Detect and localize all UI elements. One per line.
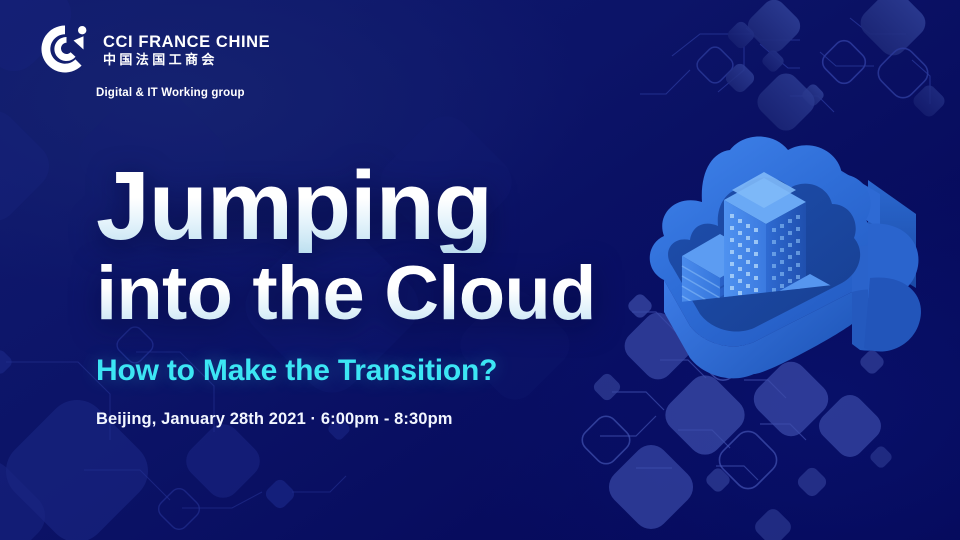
brand-logo-block: CCI FRANCE CHINE 中国法国工商会 Digital & IT Wo… [38,22,298,99]
isometric-cloud-city-illustration [616,128,956,418]
event-details: Beijing, January 28th 2021 · 6:00pm - 8:… [96,410,616,429]
event-poster: CCI FRANCE CHINE 中国法国工商会 Digital & IT Wo… [0,0,960,540]
logo-latin-name: CCI FRANCE CHINE [103,34,270,51]
title-line-2: into the Cloud [96,257,616,331]
logo-chinese-name: 中国法国工商会 [103,53,270,66]
subtitle: How to Make the Transition? [96,354,616,388]
cci-monogram-icon [38,22,92,76]
logo-row: CCI FRANCE CHINE 中国法国工商会 [38,22,298,76]
title-line-1: Jumping [96,158,616,253]
working-group-label: Digital & IT Working group [96,87,298,99]
logo-wordmark: CCI FRANCE CHINE 中国法国工商会 [103,32,270,67]
headline-block: Jumping into the Cloud How to Make the T… [96,158,616,429]
